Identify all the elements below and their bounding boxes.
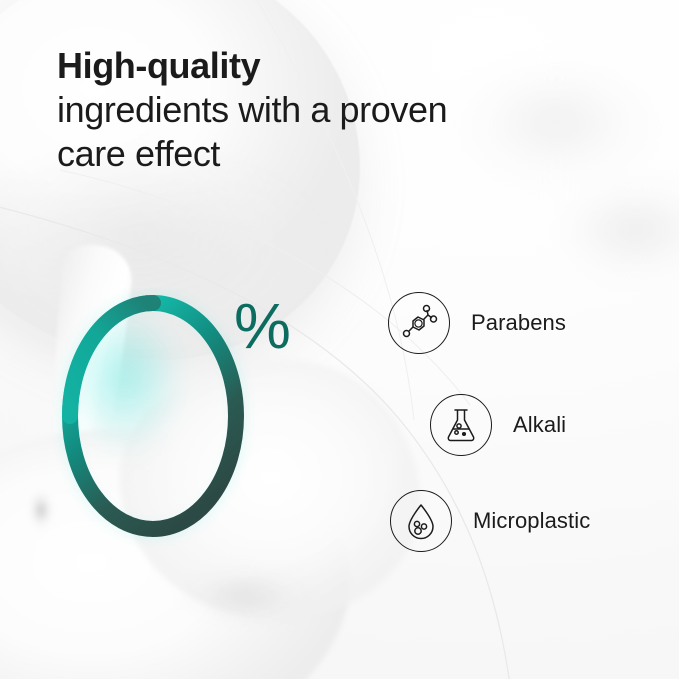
molecule-icon bbox=[388, 292, 450, 354]
water-droplet-icon bbox=[390, 490, 452, 552]
zero-percent-stat: % bbox=[52, 288, 282, 566]
percent-symbol: % bbox=[234, 294, 290, 358]
promo-graphic: High-quality ingredients with a proven c… bbox=[0, 0, 679, 679]
claim-label-parabens: Parabens bbox=[471, 310, 566, 336]
claim-item-parabens: Parabens bbox=[388, 292, 566, 354]
claim-label-alkali: Alkali bbox=[513, 412, 566, 438]
claim-item-microplastic: Microplastic bbox=[390, 490, 590, 552]
claims-list: Parabens Alkali bbox=[384, 292, 664, 567]
headline: High-quality ingredients with a proven c… bbox=[57, 44, 617, 176]
headline-line-3: care effect bbox=[57, 132, 617, 176]
claim-label-microplastic: Microplastic bbox=[473, 508, 590, 534]
claim-item-alkali: Alkali bbox=[430, 394, 566, 456]
headline-line-2: ingredients with a proven bbox=[57, 88, 617, 132]
headline-line-1: High-quality bbox=[57, 44, 617, 88]
flask-icon bbox=[430, 394, 492, 456]
